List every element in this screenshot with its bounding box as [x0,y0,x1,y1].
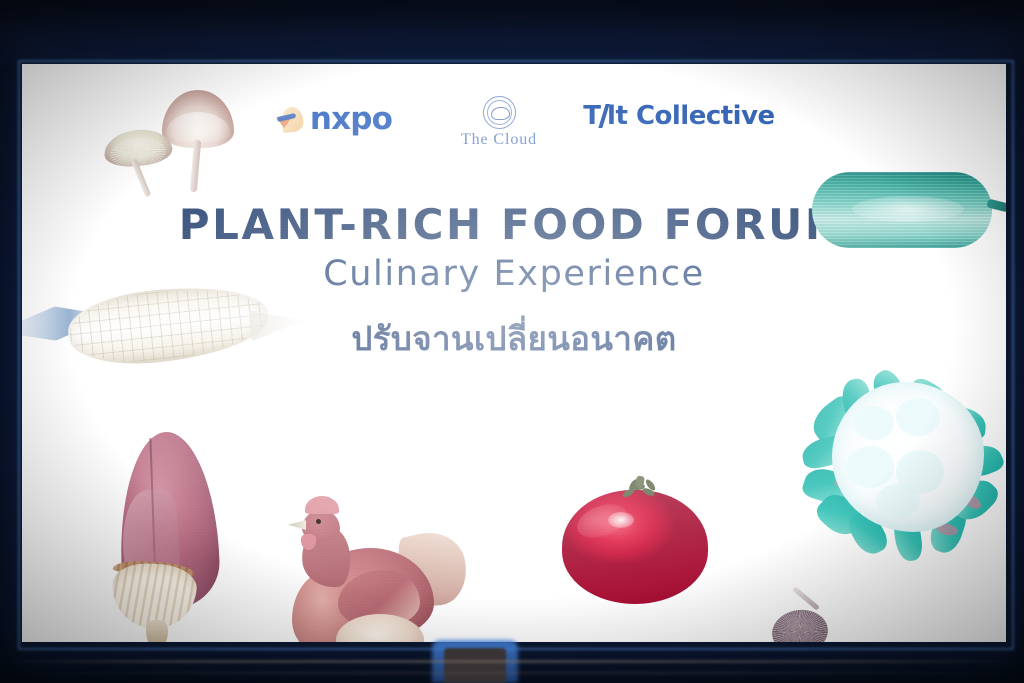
event-tagline-thai: ปรับจานเปลี่ยนอนาคต [22,319,1006,359]
illustration-small-mushroom [760,592,850,642]
stage-floor-edge-secondary [0,672,1024,674]
slide-headline-block: PLANT-RICH FOOD FORUM Culinary Experienc… [22,202,1006,358]
illustration-cauliflower [784,346,1006,578]
cloud-circle-icon [483,96,516,129]
podium-monitor-screen [444,648,506,683]
illustration-chicken [280,492,470,642]
logo-the-cloud: The Cloud [424,94,574,149]
stage-floor-edge [0,660,1024,663]
illustration-tomato [550,476,720,611]
event-title: PLANT-RICH FOOD FORUM [22,202,1006,247]
logo-tilt-wordmark-after: lt Collective [607,103,775,129]
logo-tilt-wordmark: T lt Collective [583,103,774,129]
logo-nxpo: nxpo [244,94,424,135]
event-subtitle: Culinary Experience [22,255,1006,294]
logo-the-cloud-wordmark: The Cloud [461,131,537,149]
presentation-slide: nxpo The Cloud T lt Collective PLANT-RIC… [22,64,1006,642]
logo-tilt-collective: T lt Collective [574,94,784,129]
nxpo-leaf-icon [276,106,303,133]
illustration-banana-blossom [106,432,236,642]
sponsor-logo-row: nxpo The Cloud T lt Collective [22,94,1006,150]
logo-nxpo-wordmark: nxpo [310,104,392,135]
